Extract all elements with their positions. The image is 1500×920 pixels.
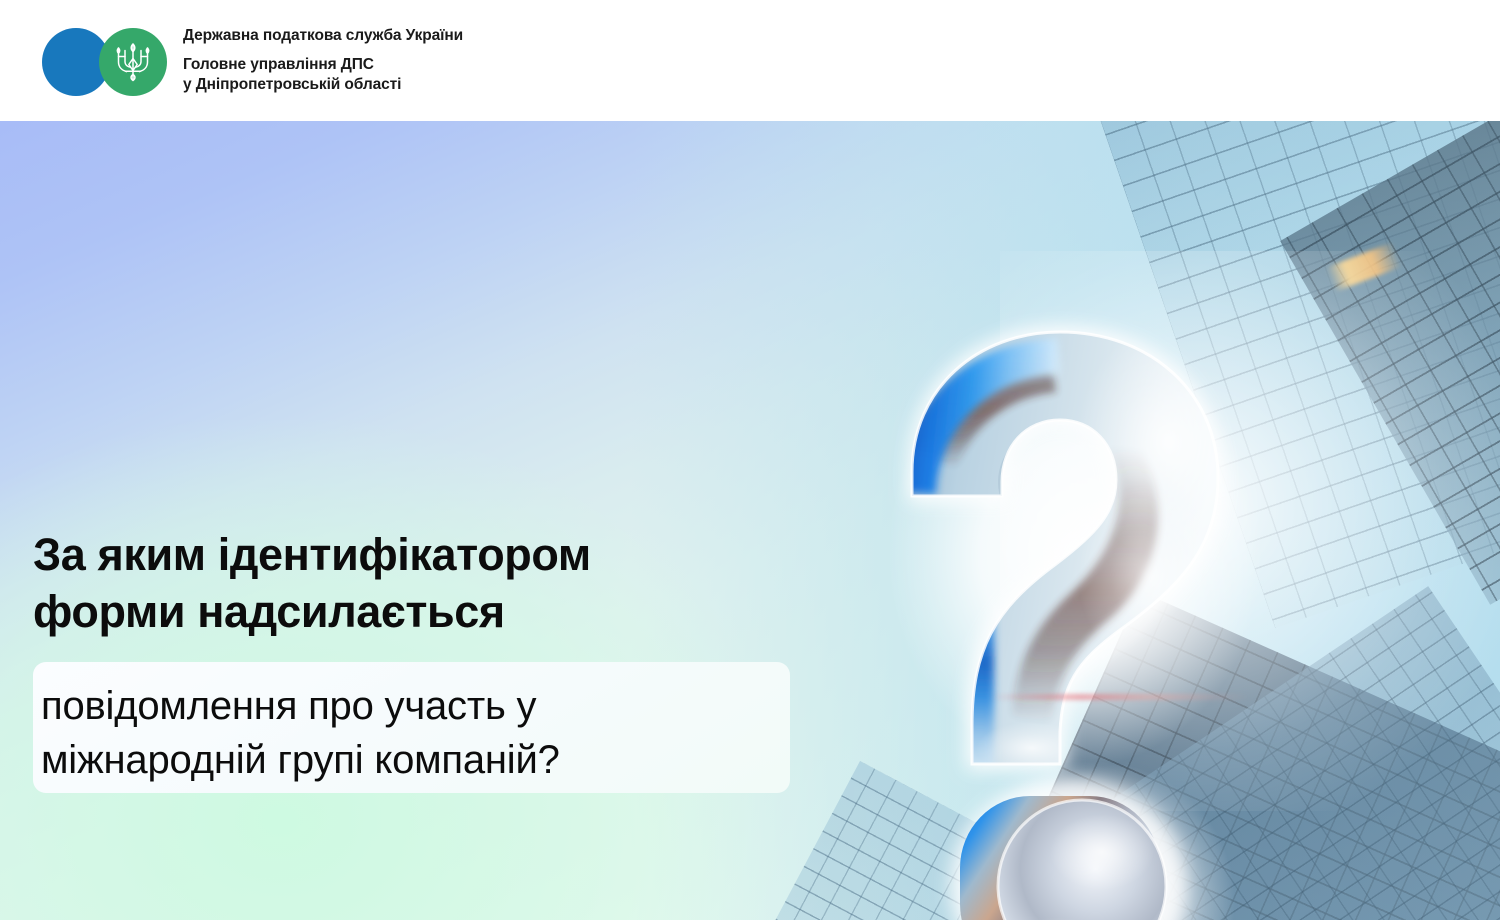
poster-canvas: За яким ідентифікатором форми надсилаєть…	[0, 0, 1500, 920]
organization-subtitle-line-2: у Дніпропетровській області	[183, 75, 883, 95]
dps-logo[interactable]	[42, 28, 172, 96]
subheading: повідомлення про участь у міжнародній гр…	[41, 679, 801, 787]
lens-flare	[990, 694, 1250, 700]
headline-line-1: За яким ідентифікатором	[33, 526, 823, 583]
site-header: Державна податкова служба України Головн…	[0, 0, 1500, 121]
page-title: За яким ідентифікатором форми надсилаєть…	[33, 526, 823, 640]
header-text-block: Державна податкова служба України Головн…	[183, 26, 883, 95]
headline-line-2: форми надсилається	[33, 583, 823, 640]
question-mark-svg	[820, 296, 1300, 920]
subheading-line-2: міжнародній групі компаній?	[41, 733, 801, 787]
ukraine-trident-icon	[114, 40, 152, 84]
question-mark-dot	[950, 778, 1186, 920]
organization-title: Державна податкова служба України	[183, 26, 883, 45]
subheading-line-1: повідомлення про участь у	[41, 679, 801, 733]
question-mark-glyph	[820, 296, 1300, 920]
organization-subtitle: Головне управління ДПС у Дніпропетровськ…	[183, 55, 883, 95]
organization-subtitle-line-1: Головне управління ДПС	[183, 55, 883, 75]
question-mark-graphic	[820, 296, 1300, 920]
artwork-area: За яким ідентифікатором форми надсилаєть…	[0, 121, 1500, 920]
